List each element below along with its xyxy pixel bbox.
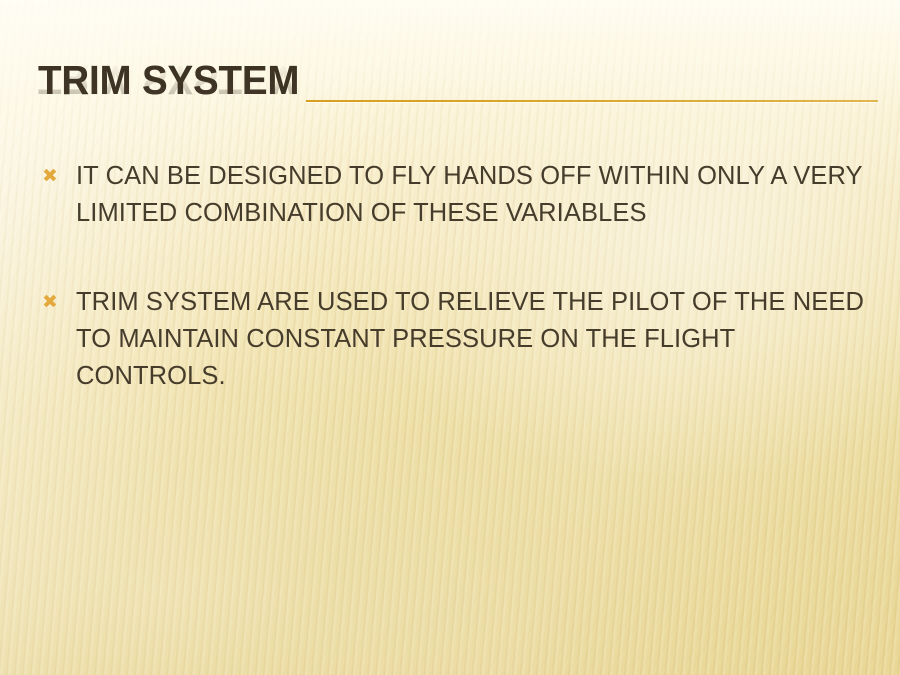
list-item: ✖ IT CAN BE DESIGNED TO FLY HANDS OFF WI…	[38, 158, 868, 232]
presentation-slide: TRIM SYSTEM TRIM SYSTEM ✖ IT CAN BE DESI…	[0, 0, 900, 675]
list-item: ✖ TRIM SYSTEM ARE USED TO RELIEVE THE PI…	[38, 284, 868, 395]
page-title: TRIM SYSTEM	[38, 58, 299, 102]
slide-title-block: TRIM SYSTEM TRIM SYSTEM	[38, 58, 858, 128]
multiplication-x-icon: ✖	[38, 158, 76, 195]
bullet-text: IT CAN BE DESIGNED TO FLY HANDS OFF WITH…	[76, 158, 866, 232]
bullet-text: TRIM SYSTEM ARE USED TO RELIEVE THE PILO…	[76, 284, 866, 395]
multiplication-x-icon: ✖	[38, 284, 76, 321]
title-divider-rule	[306, 100, 878, 102]
slide-body: ✖ IT CAN BE DESIGNED TO FLY HANDS OFF WI…	[38, 158, 868, 447]
